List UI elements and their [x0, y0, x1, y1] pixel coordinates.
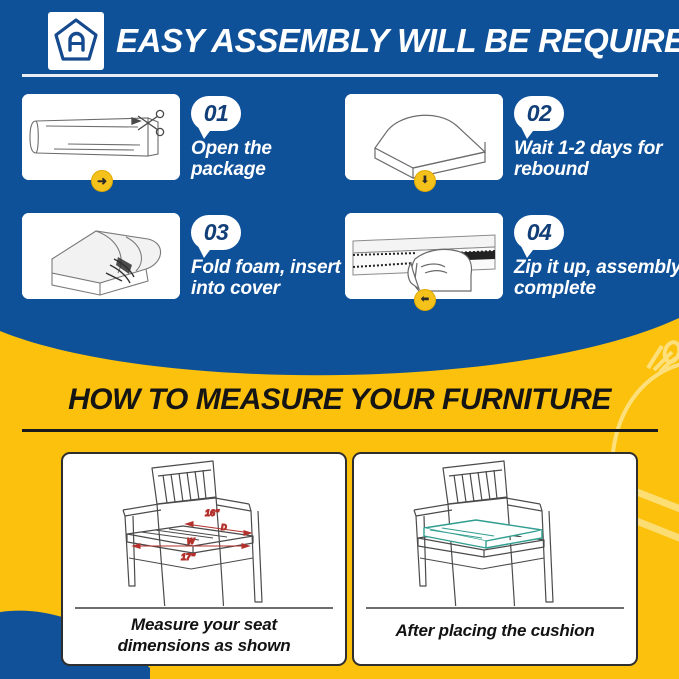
arrow-down-icon: ⬇ — [414, 170, 436, 192]
fold-foam-into-cover-illustration — [22, 213, 180, 299]
patio-chair-with-cushion-illustration — [354, 454, 632, 606]
panel-caption-left: Measure your seat dimensions as shown — [69, 614, 339, 656]
package-with-scissors-illustration — [22, 94, 180, 180]
panel-divider-left — [75, 607, 333, 609]
infographic-canvas: EASY ASSEMBLY WILL BE REQUIRED — [0, 0, 679, 679]
measure-panel-right: After placing the cushion — [352, 452, 638, 666]
measure-section-divider — [22, 429, 658, 432]
page-title: EASY ASSEMBLY WILL BE REQUIRED — [116, 16, 661, 66]
measure-section-title: HOW TO MEASURE YOUR FURNITURE — [0, 383, 679, 417]
step-number-badge-03: 03 — [191, 215, 241, 250]
step-card-01: ➜ 01 Open the package — [22, 94, 322, 194]
panel-caption-right: After placing the cushion — [360, 620, 630, 641]
svg-text:16": 16" — [205, 508, 220, 518]
page-header: EASY ASSEMBLY WILL BE REQUIRED — [0, 0, 679, 84]
step-number-badge-04: 04 — [514, 215, 564, 250]
step-card-04: ⬅ 04 Zip it up, assembly complete — [345, 213, 665, 313]
step-label-02: Wait 1-2 days for rebound — [514, 138, 674, 180]
arrow-right-icon: ➜ — [91, 170, 113, 192]
measure-panel-left: 16" D W 17" Measure your seat dimensions… — [61, 452, 347, 666]
step-card-03: 03 Fold foam, insert into cover — [22, 213, 322, 313]
step-card-02: ⬇ 02 Wait 1-2 days for rebound — [345, 94, 665, 194]
foam-cushion-illustration — [345, 94, 503, 180]
step-number-badge-01: 01 — [191, 96, 241, 131]
panel-divider-right — [366, 607, 624, 609]
svg-text:W: W — [187, 537, 196, 546]
header-divider — [22, 74, 658, 77]
step-label-03: Fold foam, insert into cover — [191, 257, 351, 299]
step-number-badge-02: 02 — [514, 96, 564, 131]
patio-chair-with-dimensions-illustration: 16" D W 17" — [63, 454, 341, 606]
house-pentagon-logo-icon — [48, 12, 104, 70]
step-label-01: Open the package — [191, 138, 331, 180]
hand-zipping-cover-illustration — [345, 213, 503, 299]
step-label-04: Zip it up, assembly complete — [514, 257, 679, 299]
svg-text:17": 17" — [181, 552, 196, 562]
arrow-left-icon: ⬅ — [414, 289, 436, 311]
svg-text:D: D — [221, 523, 227, 532]
